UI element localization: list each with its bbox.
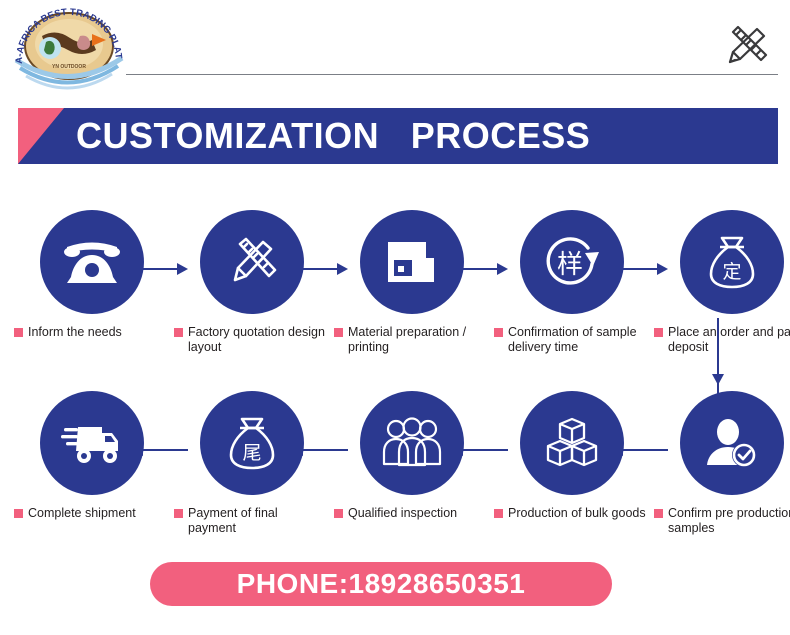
deposit-glyph: 定 bbox=[722, 261, 741, 283]
bullet-square bbox=[14, 328, 23, 337]
step-label-text: Place an order and pay a deposit bbox=[668, 325, 790, 355]
step-label-text: Material preparation / printing bbox=[348, 325, 489, 355]
step-icon-circle bbox=[40, 391, 144, 495]
step-label-text: Inform the needs bbox=[28, 325, 122, 340]
money-bag-final-icon: 尾 bbox=[225, 414, 279, 472]
boxes-icon bbox=[542, 415, 602, 471]
three-people-icon bbox=[381, 416, 443, 470]
pencil-ruler-icon bbox=[716, 20, 774, 72]
bullet-square bbox=[174, 509, 183, 518]
step-label-text: Production of bulk goods bbox=[508, 506, 646, 521]
step-label: Complete shipment bbox=[14, 506, 169, 521]
step-label: Payment of final payment bbox=[174, 506, 329, 536]
step-label: Place an order and pay a deposit bbox=[654, 325, 790, 355]
step-production-of-bulk-goods[interactable]: Production of bulk goods bbox=[494, 391, 649, 521]
printing-machine-icon bbox=[382, 236, 442, 288]
bullet-square bbox=[494, 328, 503, 337]
bullet-square bbox=[334, 328, 343, 337]
step-payment-of-final-payment[interactable]: 尾 Payment of final payment bbox=[174, 391, 329, 536]
step-icon-circle: 尾 bbox=[200, 391, 304, 495]
step-inform-the-needs[interactable]: Inform the needs bbox=[14, 210, 169, 340]
step-confirm-pre-production-samples[interactable]: Confirm pre production samples bbox=[654, 391, 790, 536]
step-label: Inform the needs bbox=[14, 325, 169, 340]
banner-accent-triangle bbox=[18, 108, 64, 164]
bullet-square bbox=[654, 509, 663, 518]
step-label-text: Complete shipment bbox=[28, 506, 136, 521]
delivery-truck-icon bbox=[60, 419, 124, 467]
step-label: Qualified inspection bbox=[334, 506, 489, 521]
bullet-square bbox=[334, 509, 343, 518]
step-label: Material preparation / printing bbox=[334, 325, 489, 355]
bullet-square bbox=[14, 509, 23, 518]
step-icon-circle bbox=[200, 210, 304, 314]
step-icon-circle bbox=[520, 391, 624, 495]
sample-refresh-icon: 样 bbox=[541, 233, 603, 291]
page-header: YN OUTDOOR CHINA-AFRICA BEST TRADING PLA… bbox=[0, 0, 790, 100]
telephone-icon bbox=[61, 235, 123, 289]
step-place-an-order-and-pay-a-deposit[interactable]: 定 Place an order and pay a deposit bbox=[654, 210, 790, 355]
step-icon-circle bbox=[360, 210, 464, 314]
step-label-text: Factory quotation design layout bbox=[188, 325, 329, 355]
bullet-square bbox=[494, 509, 503, 518]
step-icon-circle bbox=[360, 391, 464, 495]
company-logo: YN OUTDOOR CHINA-AFRICA BEST TRADING PLA… bbox=[6, 0, 132, 100]
page-title: CUSTOMIZATION PROCESS bbox=[76, 115, 590, 157]
pencil-ruler-icon bbox=[223, 234, 281, 290]
step-icon-circle bbox=[680, 391, 784, 495]
phone-banner[interactable]: PHONE:18928650351 bbox=[150, 562, 612, 606]
step-label: Production of bulk goods bbox=[494, 506, 649, 521]
step-label: Confirm pre production samples bbox=[654, 506, 790, 536]
step-label-text: Confirmation of sample delivery time bbox=[508, 325, 649, 355]
sample-glyph: 样 bbox=[556, 249, 582, 279]
step-icon-circle: 定 bbox=[680, 210, 784, 314]
svg-text:YN OUTDOOR: YN OUTDOOR bbox=[52, 64, 86, 70]
header-divider bbox=[126, 74, 778, 75]
money-bag-deposit-icon: 定 bbox=[705, 233, 759, 291]
page-title-strong: CUSTOMIZATION bbox=[76, 115, 379, 156]
step-label-text: Payment of final payment bbox=[188, 506, 329, 536]
person-check-icon bbox=[703, 415, 761, 471]
title-banner: CUSTOMIZATION PROCESS bbox=[18, 108, 778, 164]
step-factory-quotation-design-layout[interactable]: Factory quotation design layout bbox=[174, 210, 329, 355]
step-confirmation-of-sample-delivery-time[interactable]: 样 Confirmation of sample delivery time bbox=[494, 210, 649, 355]
step-qualified-inspection[interactable]: Qualified inspection bbox=[334, 391, 489, 521]
step-label-text: Confirm pre production samples bbox=[668, 506, 790, 536]
step-label: Factory quotation design layout bbox=[174, 325, 329, 355]
bullet-square bbox=[174, 328, 183, 337]
page-title-rest: PROCESS bbox=[411, 115, 591, 156]
customization-process-infographic: YN OUTDOOR CHINA-AFRICA BEST TRADING PLA… bbox=[0, 0, 790, 635]
bullet-square bbox=[654, 328, 663, 337]
step-icon-circle: 样 bbox=[520, 210, 624, 314]
step-label: Confirmation of sample delivery time bbox=[494, 325, 649, 355]
step-label-text: Qualified inspection bbox=[348, 506, 457, 521]
final-payment-glyph: 尾 bbox=[242, 443, 261, 464]
step-icon-circle bbox=[40, 210, 144, 314]
phone-number-text: PHONE:18928650351 bbox=[237, 568, 526, 600]
step-material-preparation-printing[interactable]: Material preparation / printing bbox=[334, 210, 489, 355]
step-complete-shipment[interactable]: Complete shipment bbox=[14, 391, 169, 521]
process-steps: Inform the needs bbox=[0, 196, 790, 556]
